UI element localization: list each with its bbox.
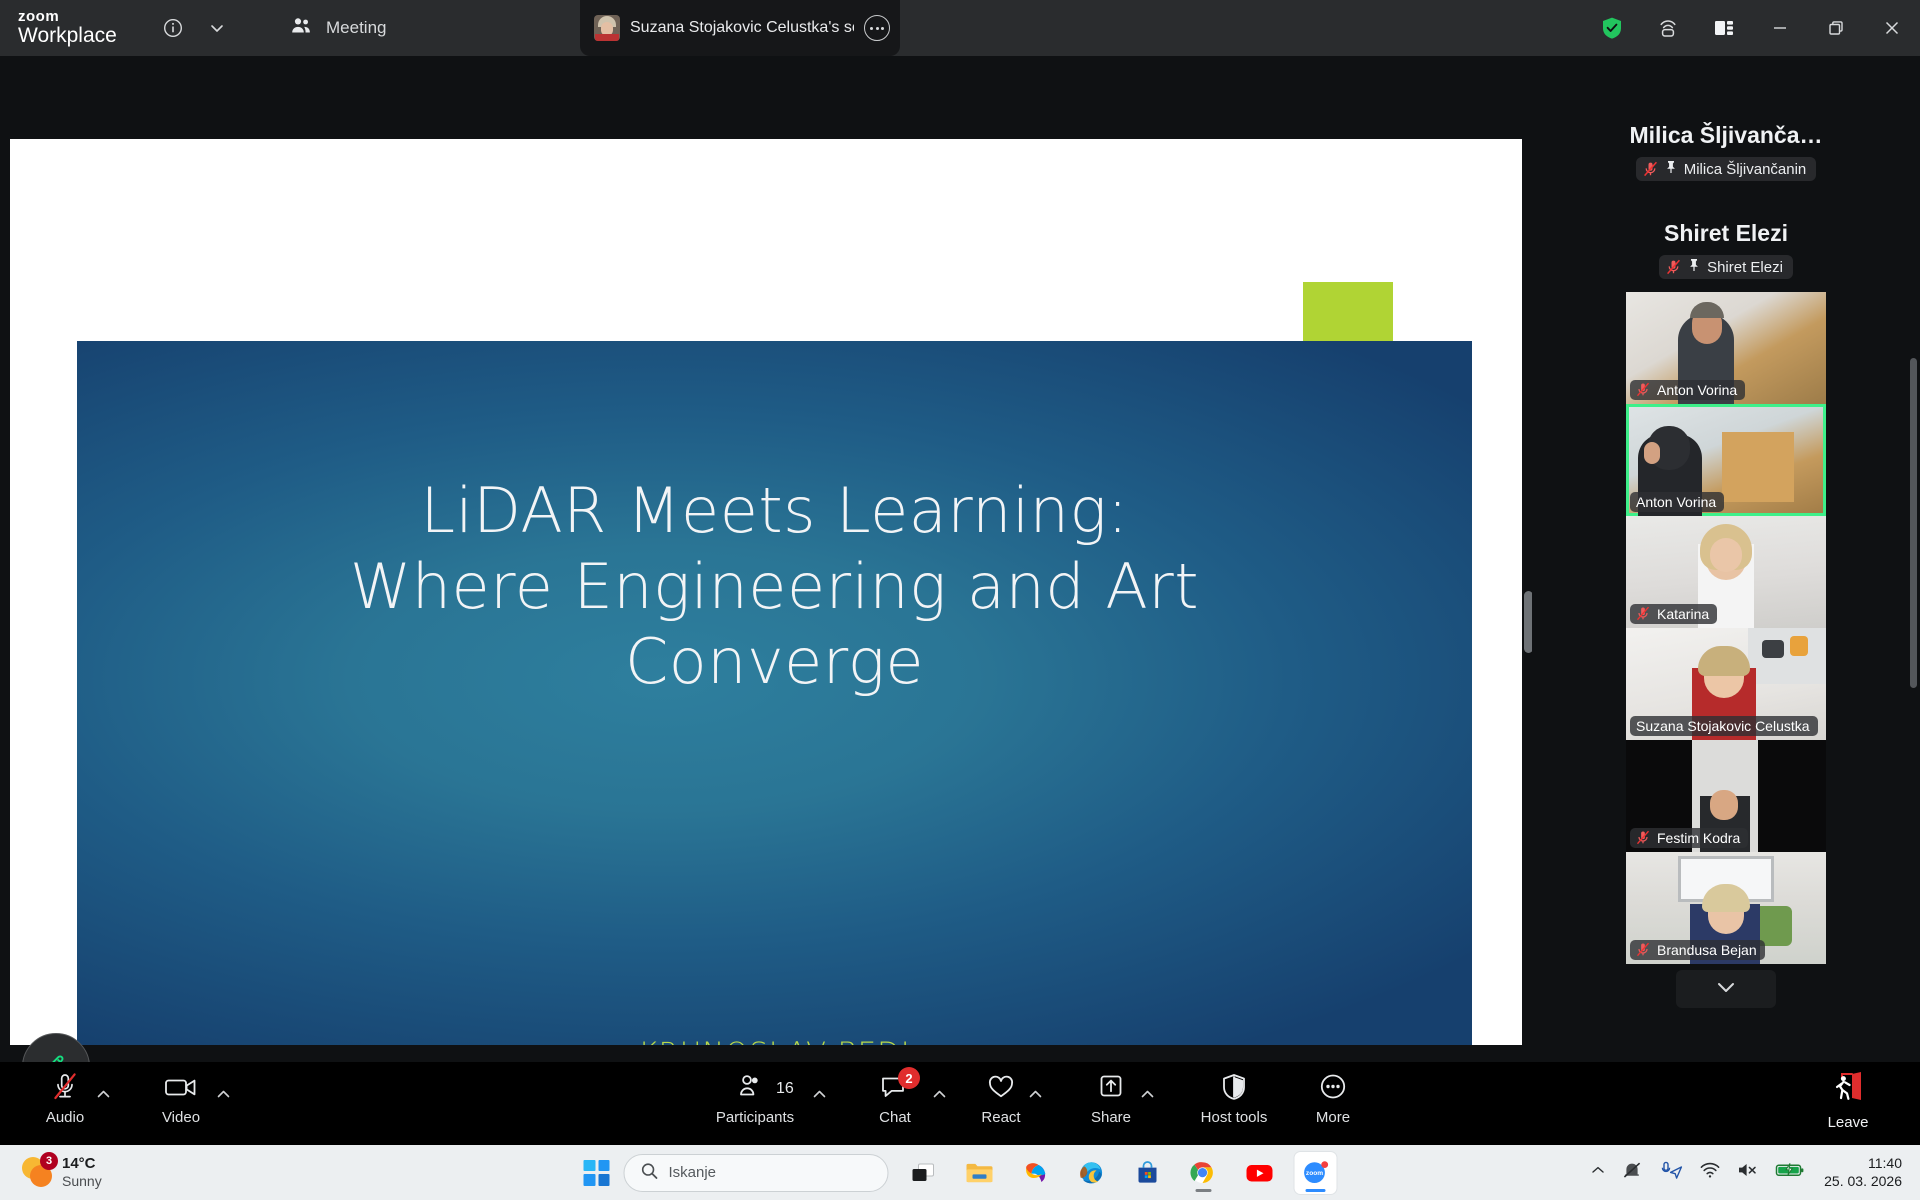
file-explorer-icon[interactable] [959, 1152, 1001, 1194]
search-input[interactable]: Iskanje [624, 1154, 889, 1192]
slide-authors: KRUNOSLAV BEDI SUZANA STOJAKOVIĆ – ČELUS… [137, 1031, 1412, 1045]
panel-nametag-row-1: Milica Šljivančanin [1532, 157, 1920, 182]
leave-label: Leave [1828, 1114, 1869, 1131]
screen-share-tab[interactable]: Suzana Stojakovic Celustka's scree [580, 0, 900, 56]
search-placeholder: Iskanje [669, 1164, 717, 1181]
window-controls [1584, 0, 1920, 56]
tile-name: Anton Vorina [1657, 382, 1737, 398]
chat-unread-badge: 2 [898, 1067, 920, 1089]
nametag: Milica Šljivančanin [1636, 157, 1817, 181]
chat-label: Chat [879, 1109, 911, 1126]
tile-name: Brandusa Bejan [1657, 942, 1757, 958]
tile-nametag: Anton Vorina [1630, 492, 1724, 512]
brand-line-2: Workplace [18, 25, 128, 47]
tile-nametag: Suzana Stojakovic Celustka [1630, 716, 1818, 736]
audio-label: Audio [46, 1109, 84, 1126]
slide-title-line-3: Converge [137, 624, 1412, 700]
react-label: React [981, 1109, 1020, 1126]
panel-nametag-row-2: Shiret Elezi [1532, 255, 1920, 280]
tile-nametag: Anton Vorina [1630, 380, 1745, 400]
tab-label: Suzana Stojakovic Celustka's scree [630, 19, 854, 37]
brand-line-1: zoom [18, 9, 128, 25]
clock-time: 11:40 [1824, 1155, 1902, 1173]
nametag: Shiret Elezi [1659, 255, 1793, 279]
share-screen-icon [1096, 1070, 1126, 1104]
microsoft-edge-icon[interactable] [1071, 1152, 1113, 1194]
avatar [594, 15, 620, 41]
share-options-caret[interactable] [1140, 1087, 1155, 1102]
youtube-icon[interactable] [1239, 1152, 1281, 1194]
restore-icon[interactable] [1808, 0, 1864, 56]
pin-icon [1688, 258, 1700, 276]
microphone-off-icon [1636, 606, 1651, 622]
shield-icon [1220, 1070, 1248, 1104]
battery-charging-icon[interactable] [1775, 1161, 1805, 1184]
chat-button[interactable]: Chat [852, 1070, 938, 1126]
view-layout-icon[interactable] [1696, 0, 1752, 56]
audio-options-caret[interactable] [96, 1087, 111, 1102]
participants-icon [738, 1070, 772, 1104]
meeting-stage: LiDAR Meets Learning: Where Engineering … [0, 56, 1920, 1062]
search-icon [641, 1162, 659, 1184]
svg-text:zoom: zoom [1306, 1170, 1323, 1177]
participants-scrollbar[interactable] [1910, 358, 1917, 688]
weather-temperature: 14°C [62, 1155, 102, 1173]
tile-nametag: Katarina [1630, 604, 1717, 624]
mic-location-icon[interactable] [1658, 1160, 1684, 1185]
weather-text: 14°C Sunny [62, 1155, 102, 1189]
close-icon[interactable] [1864, 0, 1920, 56]
tile-name: Katarina [1657, 606, 1709, 622]
clock[interactable]: 11:40 25. 03. 2026 [1824, 1155, 1902, 1190]
weather-widget[interactable]: 3 14°C Sunny [22, 1155, 102, 1189]
ellipsis-icon [1317, 1070, 1349, 1104]
nametag-label: Milica Šljivančanin [1684, 161, 1807, 178]
tile-nametag: Brandusa Bejan [1630, 940, 1765, 960]
host-tools-label: Host tools [1201, 1109, 1268, 1126]
microphone-off-icon [1666, 259, 1681, 275]
meeting-label: Meeting [326, 18, 386, 38]
leave-button[interactable]: Leave [1806, 1070, 1890, 1131]
video-options-caret[interactable] [216, 1087, 231, 1102]
pin-icon [1665, 160, 1677, 178]
react-options-caret[interactable] [1028, 1087, 1043, 1102]
people-icon [290, 16, 314, 41]
share-label: Share [1091, 1109, 1131, 1126]
video-button[interactable]: Video [138, 1070, 224, 1126]
slide-title: LiDAR Meets Learning: Where Engineering … [137, 473, 1412, 700]
nametag-label: Shiret Elezi [1707, 259, 1783, 276]
chevron-down-icon [1714, 979, 1738, 1000]
zoom-logo: zoom Workplace [18, 9, 128, 47]
video-label: Video [162, 1109, 200, 1126]
panel-speaker-header-2: Shiret Elezi [1532, 220, 1920, 247]
leave-door-icon [1829, 1070, 1867, 1109]
system-tray: 11:40 25. 03. 2026 [1590, 1155, 1920, 1190]
clock-date: 25. 03. 2026 [1824, 1173, 1902, 1191]
title-bar: zoom Workplace Meeting Suzana Stojakovic… [0, 0, 1920, 56]
slide-author-1: KRUNOSLAV BEDI [137, 1031, 1412, 1045]
participants-count: 16 [776, 1080, 794, 1098]
chat-options-caret[interactable] [932, 1087, 947, 1102]
weather-condition: Sunny [62, 1173, 102, 1190]
video-tile[interactable]: Suzana Stojakovic Celustka [1626, 628, 1826, 740]
microphone-off-icon [1636, 830, 1651, 846]
microphone-off-icon [1643, 161, 1658, 177]
microsoft-store-icon[interactable] [1127, 1152, 1169, 1194]
shield-check-icon[interactable] [1584, 0, 1640, 56]
video-tile[interactable]: Festim Kodra [1626, 740, 1826, 852]
tile-name: Festim Kodra [1657, 830, 1740, 846]
task-view-icon[interactable] [903, 1152, 945, 1194]
zoom-meeting-window: zoom Workplace Meeting Suzana Stojakovic… [0, 0, 1920, 1145]
volume-muted-icon[interactable] [1736, 1161, 1760, 1184]
info-icon[interactable] [156, 11, 190, 45]
microphone-off-icon [1636, 382, 1651, 398]
host-tools-button[interactable]: Host tools [1180, 1070, 1288, 1126]
slide-title-line-2: Where Engineering and Art [137, 549, 1412, 625]
microphone-off-icon [1636, 942, 1651, 958]
more-label: More [1316, 1109, 1350, 1126]
google-chrome-icon[interactable] [1183, 1152, 1225, 1194]
shared-screen[interactable]: LiDAR Meets Learning: Where Engineering … [10, 139, 1522, 1045]
more-button[interactable]: More [1290, 1070, 1376, 1126]
windows-taskbar: 3 14°C Sunny Iskanje [0, 1145, 1920, 1200]
presentation-slide: LiDAR Meets Learning: Where Engineering … [77, 341, 1472, 1045]
do-not-disturb-icon[interactable] [1621, 1160, 1643, 1185]
notification-badge: 3 [40, 1152, 58, 1170]
video-tile-active-speaker[interactable]: Anton Vorina [1626, 404, 1826, 516]
participants-label: Participants [716, 1109, 794, 1126]
slide-title-line-1: LiDAR Meets Learning: [137, 473, 1412, 549]
panel-speaker-header-1: Milica Šljivanča… [1532, 122, 1920, 149]
video-camera-icon [163, 1070, 199, 1104]
minimize-icon[interactable] [1752, 0, 1808, 56]
microsoft-365-icon[interactable] [1015, 1152, 1057, 1194]
video-tile[interactable]: Anton Vorina [1626, 292, 1826, 404]
meeting-toolbar: Audio Video Participants 16 [0, 1062, 1920, 1145]
windows-start-icon[interactable] [584, 1160, 610, 1186]
panel-scroll-down-button[interactable] [1676, 970, 1776, 1008]
taskbar-center: Iskanje zoom [584, 1152, 1337, 1194]
network-signal-icon[interactable] [1640, 0, 1696, 56]
tile-nametag: Festim Kodra [1630, 828, 1748, 848]
tile-name: Suzana Stojakovic Celustka [1636, 718, 1810, 734]
meeting-tab[interactable]: Meeting [280, 10, 396, 47]
participants-button[interactable]: Participants [712, 1070, 798, 1126]
tile-name: Anton Vorina [1636, 494, 1716, 510]
microphone-off-icon [50, 1070, 80, 1104]
wifi-icon[interactable] [1699, 1161, 1721, 1184]
video-tile[interactable]: Katarina [1626, 516, 1826, 628]
chevron-up-icon[interactable] [1590, 1163, 1606, 1182]
heart-icon [986, 1070, 1016, 1104]
participants-panel: Milica Šljivanča… Milica Šljivančanin Sh… [1532, 112, 1920, 1118]
more-options-icon[interactable] [864, 15, 890, 41]
chevron-down-icon[interactable] [200, 11, 234, 45]
zoom-icon[interactable]: zoom [1295, 1152, 1337, 1194]
participants-options-caret[interactable] [812, 1087, 827, 1102]
video-tile[interactable]: Brandusa Bejan [1626, 852, 1826, 964]
